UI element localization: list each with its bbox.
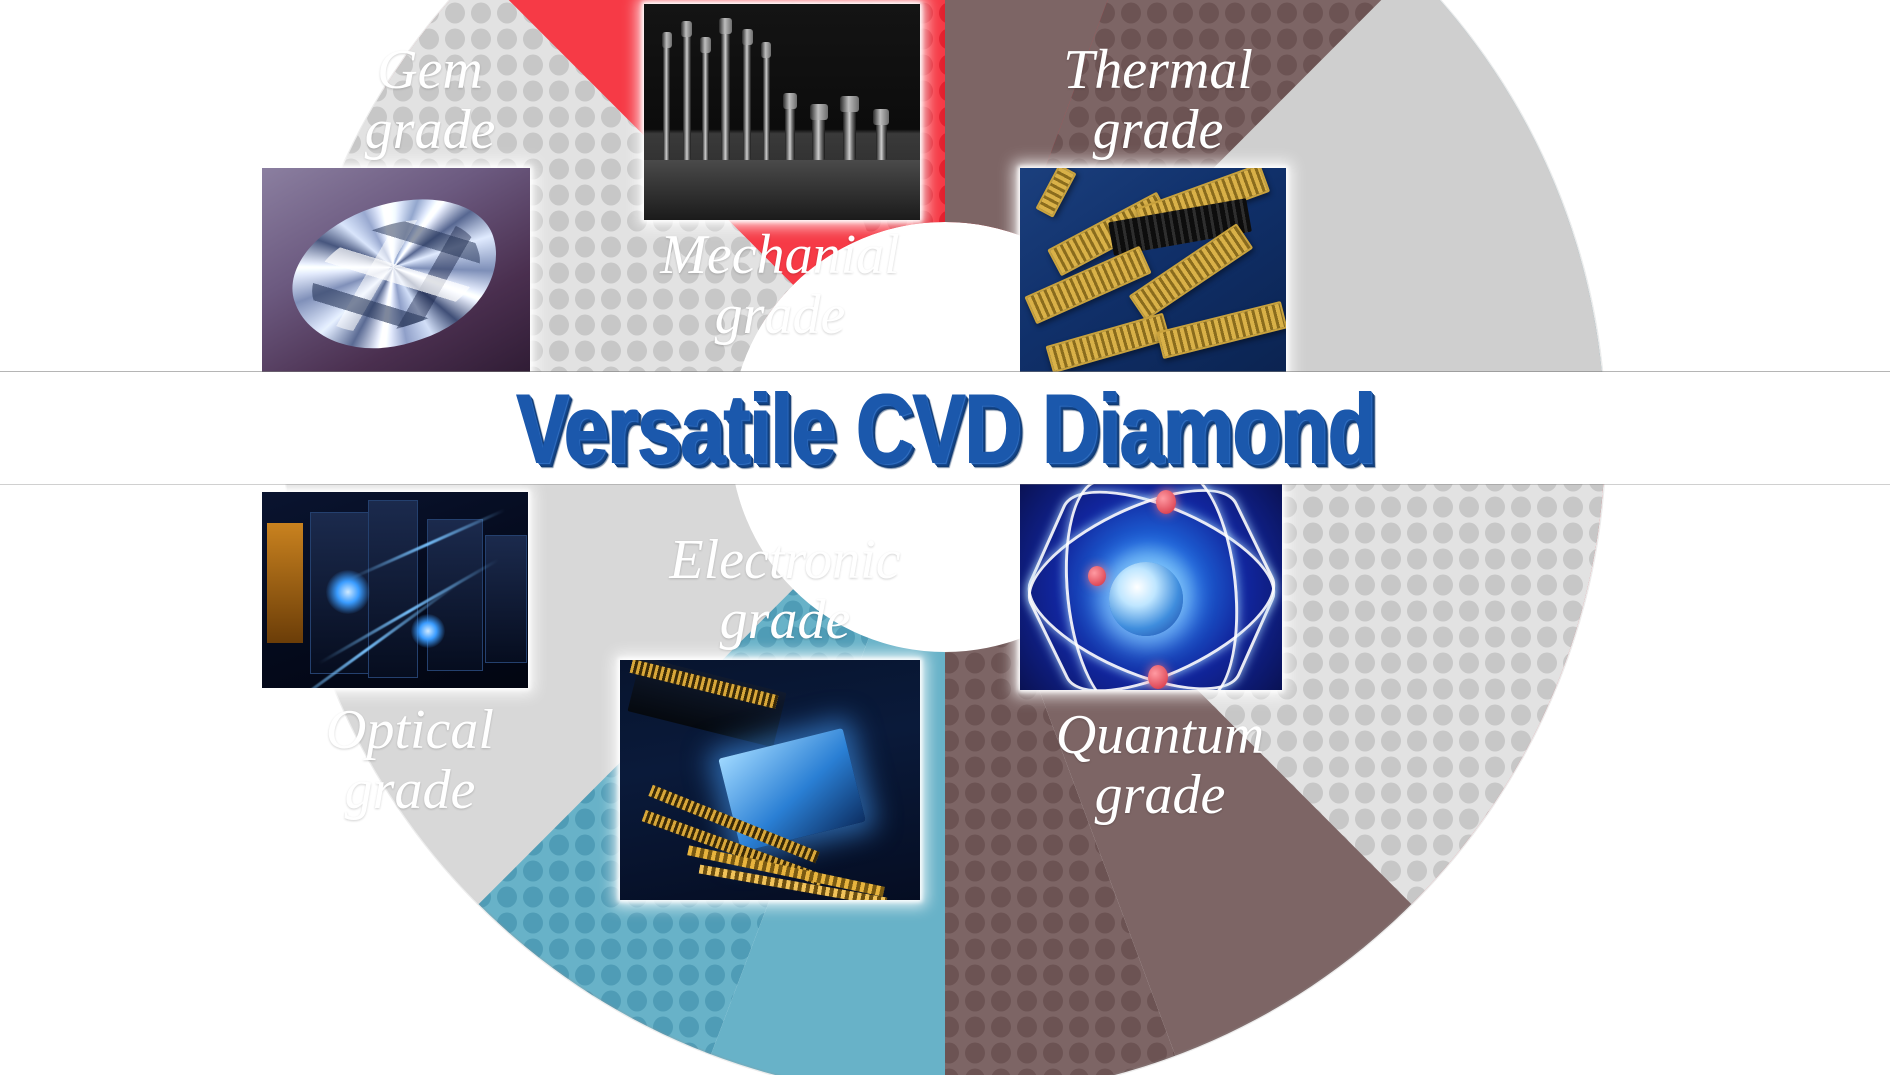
quantum-label-line1: Quantum <box>1000 705 1320 765</box>
optical-label-line1: Optical <box>280 700 540 760</box>
gem-label-line2: grade <box>300 100 560 160</box>
thermal-photo <box>1020 168 1286 380</box>
sector-label-optical: Optical grade <box>280 700 540 820</box>
quantum-photo <box>1020 484 1282 690</box>
electronic-label-line2: grade <box>630 590 940 650</box>
sector-label-electronic: Electronic grade <box>630 530 940 650</box>
mechanical-photo <box>644 4 920 220</box>
thermal-label-line1: Thermal <box>1022 40 1294 100</box>
sector-label-gem: Gem grade <box>300 40 560 160</box>
page-title: Versatile CVD Diamond <box>189 381 1701 477</box>
sector-label-thermal: Thermal grade <box>1022 40 1294 160</box>
optical-photo <box>262 492 528 688</box>
quantum-label-line2: grade <box>1000 765 1320 825</box>
diagram-canvas: Versatile CVD Diamond Gem grade Mechania… <box>0 0 1890 1075</box>
electronic-photo <box>620 660 920 900</box>
sector-label-mechanical: Mechanial grade <box>620 225 940 345</box>
gem-photo <box>262 168 530 380</box>
sector-label-quantum: Quantum grade <box>1000 705 1320 825</box>
mechanical-label-line2: grade <box>620 285 940 345</box>
gem-label-line1: Gem <box>300 40 560 100</box>
electronic-label-line1: Electronic <box>630 530 940 590</box>
mechanical-label-line1: Mechanial <box>620 225 940 285</box>
optical-label-line2: grade <box>280 760 540 820</box>
thermal-label-line2: grade <box>1022 100 1294 160</box>
